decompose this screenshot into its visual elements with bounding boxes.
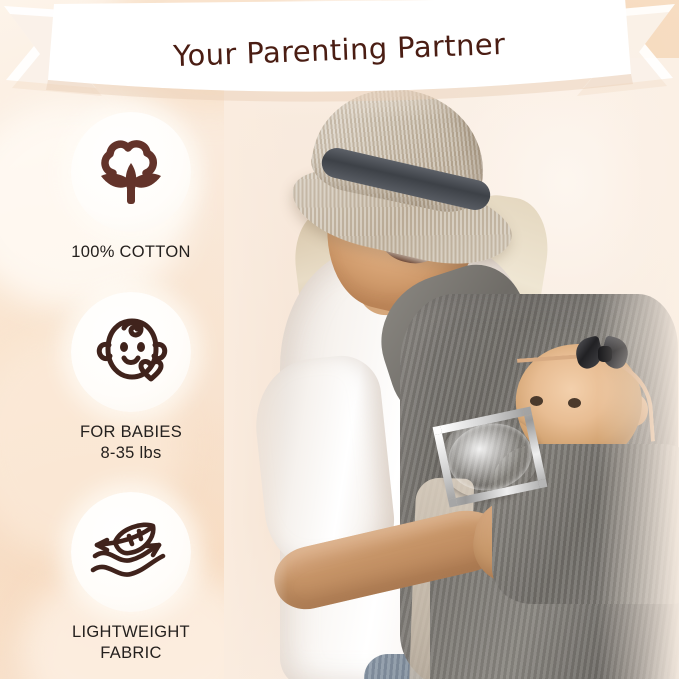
feature-cotton: 100% COTTON xyxy=(36,112,226,263)
feature-label-line: 100% COTTON xyxy=(36,242,226,263)
header-banner: Your Parenting Partner xyxy=(0,0,679,112)
baby-bow-knot xyxy=(598,346,612,362)
feature-badge-circle xyxy=(71,292,191,412)
product-infographic: Your Parenting Partner 100% COTTON xyxy=(0,0,679,679)
feature-label-babies: FOR BABIES 8-35 lbs xyxy=(36,422,226,464)
feature-label-line: 8-35 lbs xyxy=(36,443,226,464)
feature-label-line: FABRIC xyxy=(36,643,226,664)
feature-badge-circle xyxy=(71,112,191,232)
feature-label-line: LIGHTWEIGHT xyxy=(36,622,226,643)
feather-fabric-icon xyxy=(85,512,177,592)
feature-label-cotton: 100% COTTON xyxy=(36,242,226,263)
cotton-boll-icon xyxy=(88,129,174,215)
feature-badge-circle xyxy=(71,492,191,612)
baby-face-icon xyxy=(86,309,176,395)
baby-bow xyxy=(576,338,632,370)
feature-label-lightweight: LIGHTWEIGHT FABRIC xyxy=(36,622,226,664)
lifestyle-photo xyxy=(224,58,679,679)
feature-lightweight: LIGHTWEIGHT FABRIC xyxy=(36,492,226,664)
feature-label-line: FOR BABIES xyxy=(36,422,226,443)
feature-babies: FOR BABIES 8-35 lbs xyxy=(36,292,226,464)
